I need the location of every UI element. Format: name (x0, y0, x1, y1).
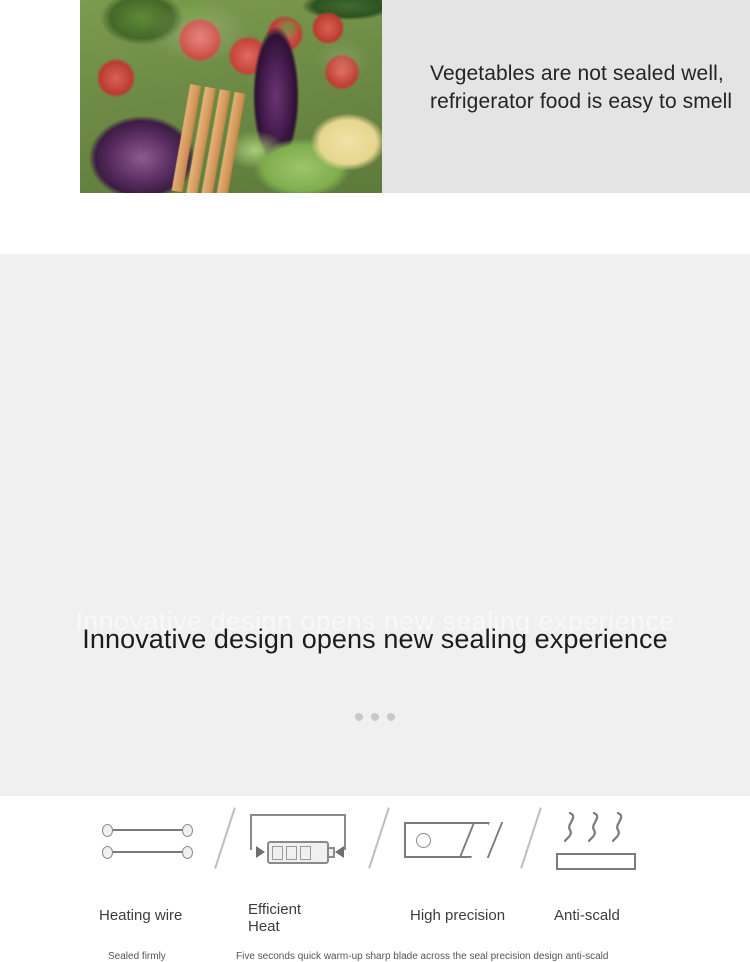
feature-label-anti-scald: Anti-scald (554, 908, 620, 925)
feature-label-efficient-heat: Efficient Heat (248, 902, 328, 935)
battery-cell-3 (300, 846, 311, 860)
battery-terminal (329, 847, 335, 858)
steam-base-bar (556, 853, 636, 870)
steam-wave-lines (562, 810, 632, 852)
wire-node-top-right (182, 824, 193, 837)
battery-body (267, 841, 329, 864)
blade-icon (404, 822, 502, 862)
feature-headline: Innovative design opens new sealing expe… (0, 624, 750, 655)
subcaption-sealed-firmly: Sealed firmly (108, 951, 166, 962)
steam-heat-icon (556, 810, 638, 870)
carousel-dot-3[interactable] (387, 713, 395, 721)
wire-node-top-left (102, 824, 113, 837)
subcaption-long-description: Five seconds quick warm-up sharp blade a… (236, 951, 608, 962)
wire-node-bottom-right (182, 846, 193, 859)
battery-cell-2 (286, 846, 297, 860)
carousel-dot-2[interactable] (371, 713, 379, 721)
wire-line-bottom (112, 851, 184, 853)
heating-wire-icon (102, 820, 194, 862)
battery-charging-icon (246, 814, 350, 870)
photo-sheen (80, 0, 382, 193)
wire-node-bottom-left (102, 846, 113, 859)
product-banner: Vegetables are not sealed well, refriger… (0, 0, 750, 254)
carousel-dot-1[interactable] (355, 713, 363, 721)
feature-label-heating-wire: Heating wire (99, 908, 182, 925)
battery-arrow-left (256, 846, 265, 858)
wire-line-top (112, 829, 184, 831)
banner-headline: Vegetables are not sealed well, refriger… (430, 60, 740, 115)
battery-arrow-right (335, 846, 344, 858)
vegetables-photo (80, 0, 382, 193)
feature-label-high-precision: High precision (410, 908, 505, 925)
carousel-dots[interactable] (0, 713, 750, 721)
battery-cell-1 (272, 846, 283, 860)
blade-mount-hole (416, 833, 431, 848)
feature-section: Innovative design opens new sealing expe… (0, 254, 750, 796)
